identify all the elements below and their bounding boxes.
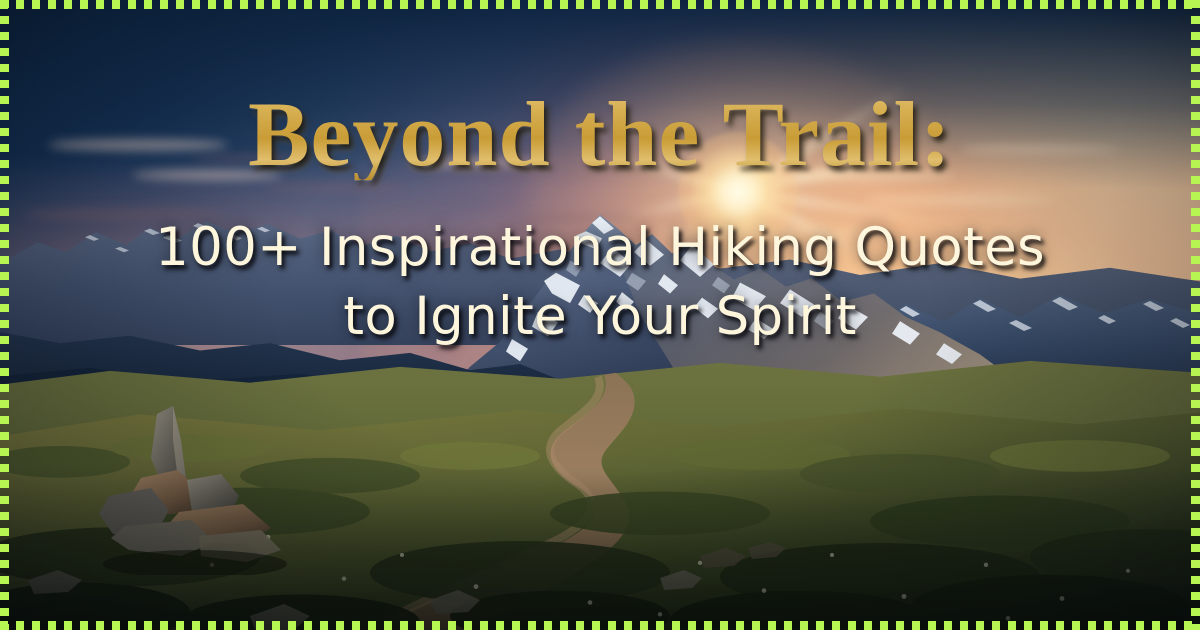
banner-subtitle: 100+ Inspirational Hiking Quotes to Igni…	[155, 214, 1045, 352]
banner-subtitle-line-2: to Ignite Your Spirit	[155, 283, 1045, 352]
banner-subtitle-line-1: 100+ Inspirational Hiking Quotes	[155, 214, 1045, 283]
banner-text-block: Beyond the Trail: 100+ Inspirational Hik…	[0, 0, 1200, 630]
banner-title: Beyond the Trail:	[248, 88, 952, 180]
hero-banner: Beyond the Trail: 100+ Inspirational Hik…	[0, 0, 1200, 630]
